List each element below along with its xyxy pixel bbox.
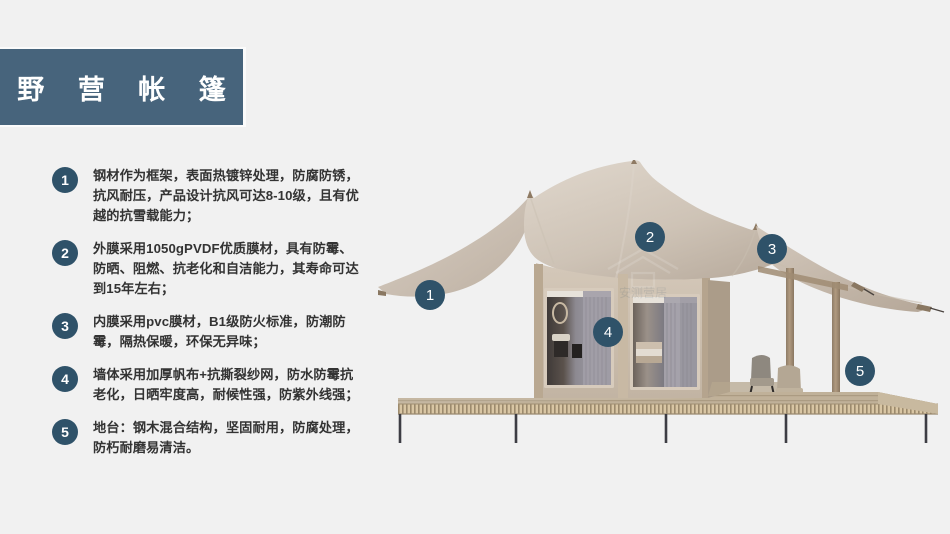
feature-list: 1 钢材作为框架，表面热镀锌处理，防腐防锈，抗风耐压，产品设计抗风可达8-10级… [52, 166, 372, 471]
peak-tip-left [527, 190, 533, 198]
feature-text: 内膜采用pvc膜材，B1级防火标准，防潮防霉，隔热保暖，环保无异味； [93, 312, 361, 352]
image-marker-2[interactable]: 2 [635, 222, 665, 252]
cabin-wall-side [708, 280, 730, 398]
deck-edge-stripes [398, 404, 938, 414]
feature-number-badge: 5 [52, 419, 78, 445]
canopy-main [524, 160, 778, 280]
slide-root: 野 营 帐 篷 1 钢材作为框架，表面热镀锌处理，防腐防锈，抗风耐压，产品设计抗… [0, 0, 950, 534]
image-marker-5[interactable]: 5 [845, 356, 875, 386]
tent-illustration [378, 160, 950, 445]
page-title: 野 营 帐 篷 [4, 68, 239, 107]
list-item: 3 内膜采用pvc膜材，B1级防火标准，防潮防霉，隔热保暖，环保无异味； [52, 312, 372, 352]
wall-corner-post-left [534, 264, 543, 398]
window-bedroom [630, 294, 700, 390]
list-item: 2 外膜采用1050gPVDF优质膜材，具有防霉、防晒、阻燃、抗老化和自洁能力，… [52, 239, 372, 299]
feature-number-badge: 2 [52, 240, 78, 266]
feature-number-badge: 3 [52, 313, 78, 339]
list-item: 1 钢材作为框架，表面热镀锌处理，防腐防锈，抗风耐压，产品设计抗风可达8-10级… [52, 166, 372, 226]
list-item: 5 地台：钢木混合结构，坚固耐用，防腐处理，防朽耐磨易清洁。 [52, 418, 372, 458]
canopy-left-wing [378, 198, 530, 297]
page-title-banner: 野 营 帐 篷 [0, 47, 246, 127]
feature-text: 地台：钢木混合结构，坚固耐用，防腐处理，防朽耐磨易清洁。 [93, 418, 361, 458]
feature-number-badge: 1 [52, 167, 78, 193]
image-marker-3[interactable]: 3 [757, 234, 787, 264]
feature-text: 墙体采用加厚帆布+抗撕裂纱网，防水防霉抗老化，日晒牢度高，耐候性强，防紫外线强； [93, 365, 361, 405]
image-marker-1[interactable]: 1 [415, 280, 445, 310]
feature-number-badge: 4 [52, 366, 78, 392]
patio-pole-right [832, 282, 840, 394]
deck-legs [400, 414, 926, 443]
feature-text: 外膜采用1050gPVDF优质膜材，具有防霉、防晒、阻燃、抗老化和自洁能力，其寿… [93, 239, 361, 299]
feature-text: 钢材作为框架，表面热镀锌处理，防腐防锈，抗风耐压，产品设计抗风可达8-10级，且… [93, 166, 361, 226]
list-item: 4 墙体采用加厚帆布+抗撕裂纱网，防水防霉抗老化，日晒牢度高，耐候性强，防紫外线… [52, 365, 372, 405]
image-marker-4[interactable]: 4 [593, 317, 623, 347]
